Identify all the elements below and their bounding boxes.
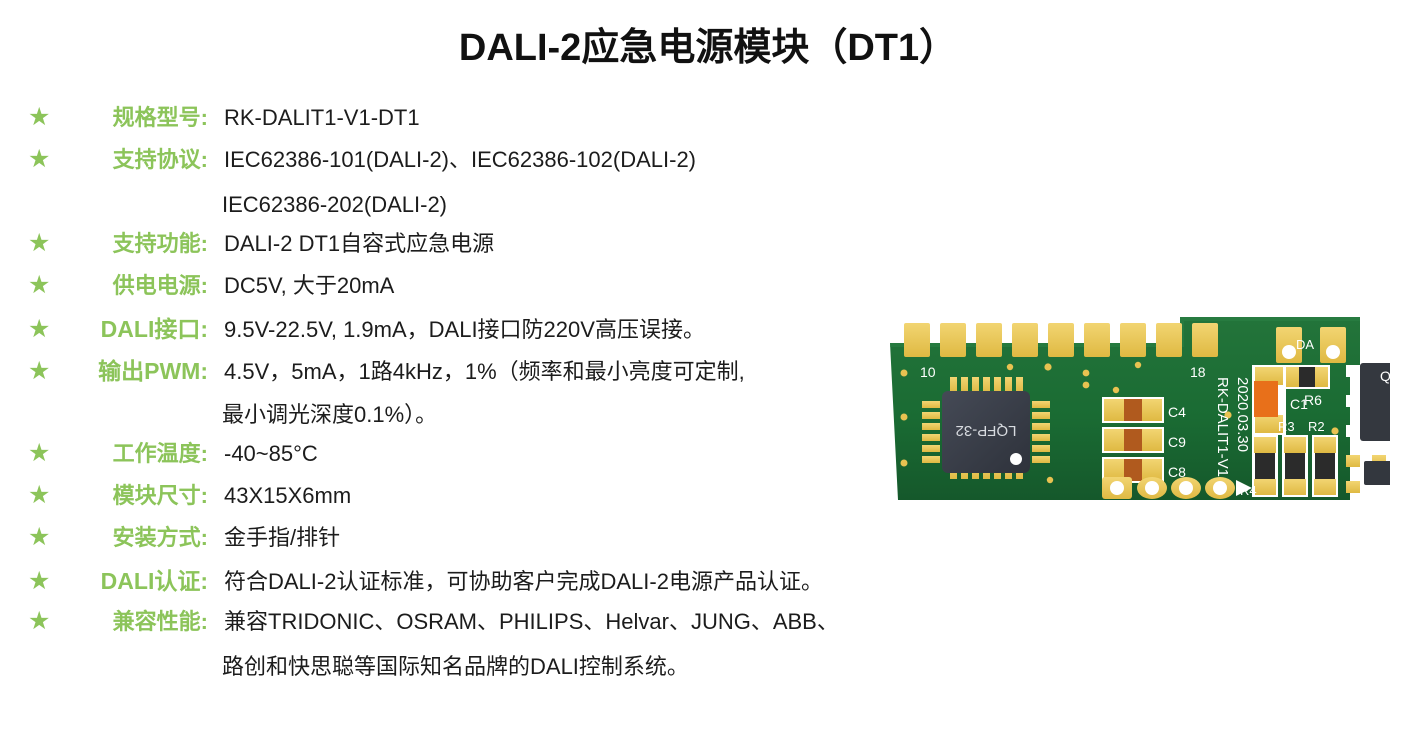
gold-finger-pads (904, 323, 1218, 357)
silk-r3-label: R3 (1278, 419, 1295, 434)
spec-row-temperature: ★ 工作温度: -40~85°C (0, 436, 960, 478)
silk-date-code: 2020.03.30 (1234, 377, 1251, 452)
star-icon: ★ (28, 317, 58, 342)
silk-pin18-label: 18 (1190, 364, 1206, 380)
spec-label: 支持协议: (58, 142, 210, 174)
spec-row-dimensions: ★ 模块尺寸: 43X15X6mm (0, 478, 960, 520)
spec-head: ★ 供电电源: DC5V, 大于20mA (0, 268, 960, 310)
spec-label: DALI接口: (58, 310, 210, 344)
star-icon: ★ (28, 609, 58, 634)
star-icon: ★ (28, 359, 58, 384)
spec-head: ★ DALI接口: 9.5V-22.5V, 1.9mA，DALI接口防220V高… (0, 310, 960, 352)
silk-c4-label: C4 (1168, 404, 1186, 420)
spec-row-compatibility: ★ 兼容性能: 兼容TRIDONIC、OSRAM、PHILIPS、Helvar、… (0, 604, 960, 688)
spec-head: ★ DALI认证: 符合DALI-2认证标准，可协助客户完成DALI-2电源产品… (0, 562, 960, 604)
spec-label: 工作温度: (58, 436, 210, 468)
spec-value: 43X15X6mm (210, 483, 960, 509)
spec-label: DALI认证: (58, 562, 210, 596)
spec-head: ★ 输出PWM: 4.5V，5mA，1路4kHz，1%（频率和最小亮度可定制, (0, 352, 960, 394)
spec-row-certification: ★ DALI认证: 符合DALI-2认证标准，可协助客户完成DALI-2电源产品… (0, 562, 960, 604)
spec-label: 模块尺寸: (58, 478, 210, 510)
spec-head: ★ 模块尺寸: 43X15X6mm (0, 478, 960, 520)
pcb-product-photo: DA 10 18 L (880, 305, 1390, 520)
spec-row-function: ★ 支持功能: DALI-2 DT1自容式应急电源 (0, 226, 960, 268)
spec-value: DC5V, 大于20mA (210, 268, 960, 300)
spec-row-dali-interface: ★ DALI接口: 9.5V-22.5V, 1.9mA，DALI接口防220V高… (0, 310, 960, 352)
spec-head: ★ 规格型号: RK-DALIT1-V1-DT1 (0, 100, 960, 142)
spec-value: 金手指/排针 (210, 520, 960, 552)
star-icon: ★ (28, 231, 58, 256)
spec-value: IEC62386-101(DALI-2)、IEC62386-102(DALI-2… (210, 142, 960, 174)
q3-component: Q3 (1346, 363, 1390, 441)
silk-da-label: DA (1296, 337, 1314, 352)
spec-row-power-supply: ★ 供电电源: DC5V, 大于20mA (0, 268, 960, 310)
star-icon: ★ (28, 105, 58, 130)
spec-value: 4.5V，5mA，1路4kHz，1%（频率和最小亮度可定制, (210, 354, 960, 386)
silk-r6-label: R6 (1304, 392, 1322, 408)
star-icon: ★ (28, 441, 58, 466)
star-icon: ★ (28, 483, 58, 508)
spec-value-continued: IEC62386-202(DALI-2) (0, 184, 960, 226)
spec-row-model: ★ 规格型号: RK-DALIT1-V1-DT1 (0, 100, 960, 142)
spec-head: ★ 支持功能: DALI-2 DT1自容式应急电源 (0, 226, 960, 268)
star-icon: ★ (28, 569, 58, 594)
spec-row-mounting: ★ 安装方式: 金手指/排针 (0, 520, 960, 562)
silk-r2-label: R2 (1308, 419, 1325, 434)
spec-head: ★ 支持协议: IEC62386-101(DALI-2)、IEC62386-10… (0, 142, 960, 184)
capacitor-cluster: C4 C9 C8 (1102, 397, 1186, 483)
star-icon: ★ (28, 273, 58, 298)
star-icon: ★ (28, 525, 58, 550)
silk-pin10-label: 10 (920, 364, 936, 380)
silk-q1-label: Q1 (1350, 439, 1367, 454)
through-hole-pads (1102, 477, 1252, 499)
silk-r4-label: R4 (1240, 483, 1257, 498)
spec-value: 兼容TRIDONIC、OSRAM、PHILIPS、Helvar、JUNG、ABB… (210, 604, 960, 636)
page-title: DALI-2应急电源模块（DT1） (0, 16, 1416, 71)
silk-q3-label: Q3 (1380, 368, 1390, 384)
silk-part-name: RK-DALIT1-V1 (1214, 377, 1231, 477)
spec-value-continued: 最小调光深度0.1%）。 (0, 394, 960, 436)
spec-label: 规格型号: (58, 100, 210, 132)
spec-label: 安装方式: (58, 520, 210, 552)
spec-value: -40~85°C (210, 441, 960, 467)
spec-row-pwm-output: ★ 输出PWM: 4.5V，5mA，1路4kHz，1%（频率和最小亮度可定制, … (0, 352, 960, 436)
spec-label: 输出PWM: (58, 352, 210, 386)
star-icon: ★ (28, 147, 58, 172)
spec-label: 支持功能: (58, 226, 210, 258)
spec-list: ★ 规格型号: RK-DALIT1-V1-DT1 ★ 支持协议: IEC6238… (0, 100, 960, 688)
spec-value-continued: 路创和快思聪等国际知名品牌的DALI控制系统。 (0, 646, 960, 688)
spec-row-protocol: ★ 支持协议: IEC62386-101(DALI-2)、IEC62386-10… (0, 142, 960, 226)
spec-head: ★ 工作温度: -40~85°C (0, 436, 960, 478)
q1-transistor: Q1 (1346, 439, 1390, 493)
spec-value: RK-DALIT1-V1-DT1 (210, 105, 960, 131)
spec-value: 符合DALI-2认证标准，可协助客户完成DALI-2电源产品认证。 (210, 564, 960, 596)
spec-head: ★ 兼容性能: 兼容TRIDONIC、OSRAM、PHILIPS、Helvar、… (0, 604, 960, 646)
spec-value: DALI-2 DT1自容式应急电源 (210, 226, 960, 258)
silk-chip-label: LQFP-32 (956, 422, 1017, 439)
silk-c9-label: C9 (1168, 434, 1186, 450)
spec-label: 供电电源: (58, 268, 210, 300)
spec-label: 兼容性能: (58, 604, 210, 636)
spec-head: ★ 安装方式: 金手指/排针 (0, 520, 960, 562)
spec-value: 9.5V-22.5V, 1.9mA，DALI接口防220V高压误接。 (210, 312, 960, 344)
